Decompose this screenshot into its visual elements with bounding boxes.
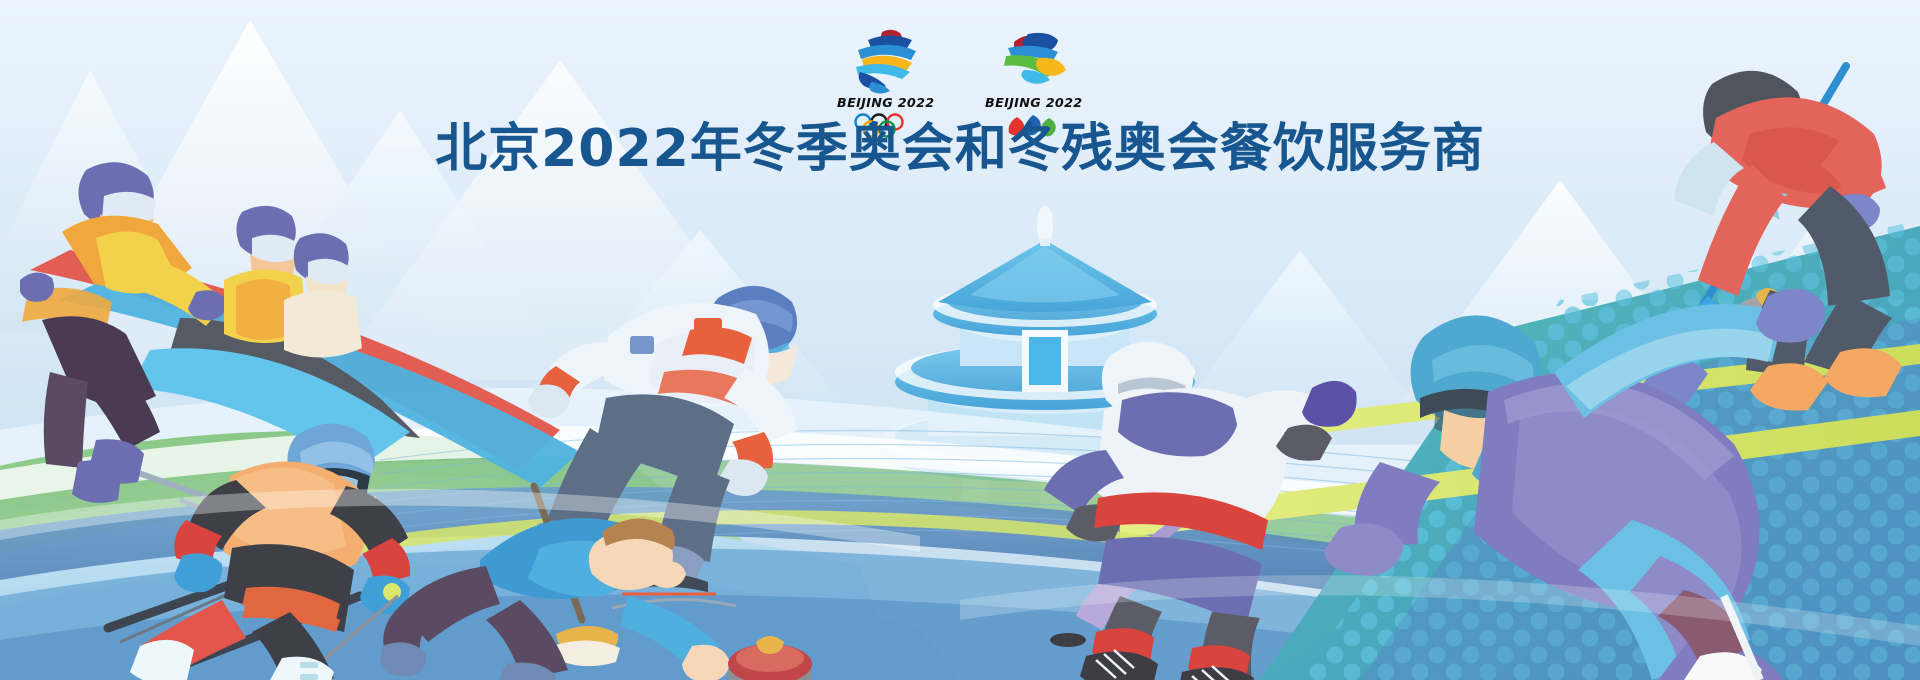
page-title: 北京2022年冬季奥会和冬残奥会餐饮服务商 [0,118,1920,180]
beijing-2022-olympic-winter-games-emblem [838,26,934,94]
beijing-2022-paralympic-winter-games-emblem [986,26,1082,94]
olympic-wordmark: BEIJING 2022 [837,95,934,110]
paralympic-wordmark: BEIJING 2022 [985,95,1082,110]
beijing-2022-catering-banner: BEIJING 2022 [0,0,1920,680]
